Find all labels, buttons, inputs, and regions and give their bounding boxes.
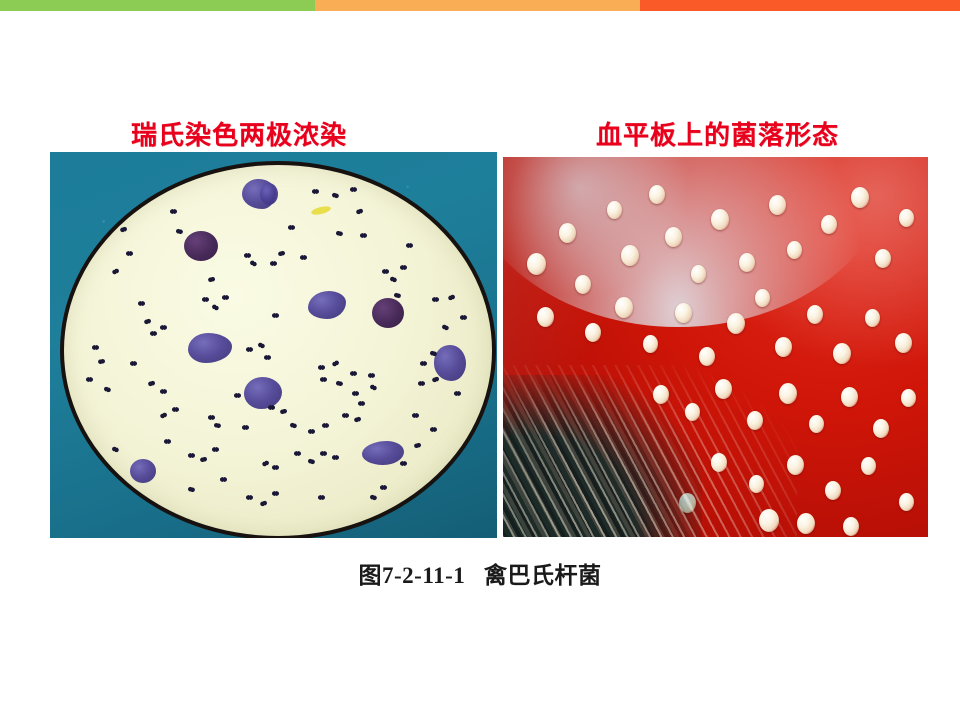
streak-colony-specks	[503, 365, 797, 537]
bacterial-colony	[699, 347, 715, 366]
figure-image-wright-stain-smear	[50, 152, 497, 538]
bacterial-colony	[643, 335, 658, 353]
bacterial-colony	[675, 303, 692, 323]
bacterial-colony	[665, 227, 682, 247]
band-segment-green	[0, 0, 315, 11]
bacterial-colony	[899, 209, 914, 227]
bacterial-colony	[649, 185, 665, 204]
slide-root: { "slide": { "background_color": "#fffff…	[0, 0, 960, 720]
bacterial-colony	[841, 387, 858, 407]
bacterial-colony	[807, 305, 823, 324]
bacterial-colony	[873, 419, 889, 438]
bacterial-colony	[537, 307, 554, 327]
band-segment-red	[640, 0, 960, 11]
bacterial-colony	[727, 313, 745, 334]
bacterial-colony	[851, 187, 869, 208]
bacterial-colony	[833, 343, 851, 364]
bacterial-colony	[875, 249, 891, 268]
bacterial-colony	[901, 389, 916, 407]
band-segment-orange	[315, 0, 640, 11]
bacterial-colony	[755, 289, 770, 307]
bacterial-colony	[787, 241, 802, 259]
bacterial-colony	[861, 457, 876, 475]
bacterial-colony	[585, 323, 601, 342]
bacterial-colony	[769, 195, 786, 215]
bacterial-colony	[895, 333, 912, 353]
bacterial-colony	[607, 201, 622, 219]
bacterial-colony	[575, 275, 591, 294]
bacterial-colony	[865, 309, 880, 327]
bacteria-cluster	[64, 165, 492, 536]
figure-title-left: 瑞氏染色两极浓染	[131, 115, 347, 152]
bacterial-colony	[821, 215, 837, 234]
figure-title-right: 血平板上的菌落形态	[596, 115, 839, 152]
bacterial-colony	[711, 209, 729, 230]
microscope-field	[60, 161, 496, 538]
bacterial-colony	[739, 253, 755, 272]
bacterial-colony	[843, 517, 859, 536]
bacterial-colony	[691, 265, 706, 283]
bacterial-colony	[621, 245, 639, 266]
bacterial-colony	[775, 337, 792, 357]
bacterial-colony	[615, 297, 633, 318]
bacterial-colony	[559, 223, 576, 243]
bacterial-colony	[899, 493, 914, 511]
bacterial-colony	[825, 481, 841, 500]
figure-caption: 图7-2-11-1 禽巴氏杆菌	[0, 556, 960, 590]
bacterial-colony	[797, 513, 815, 534]
figure-image-blood-agar-colonies	[503, 157, 928, 537]
bacterial-colony	[527, 253, 546, 275]
bacterial-colony	[809, 415, 824, 433]
top-decorative-band	[0, 0, 960, 11]
